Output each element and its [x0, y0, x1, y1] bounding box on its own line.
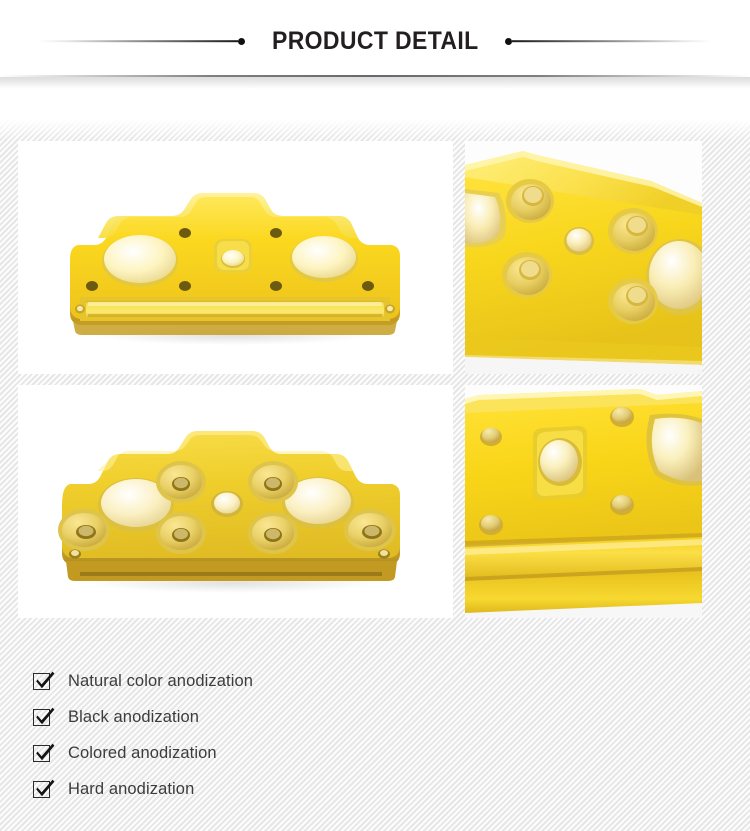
list-item-label: Hard anodization	[68, 780, 194, 799]
bracket-front-closeup-illustration	[465, 141, 702, 374]
header-rule-right-bar	[512, 40, 712, 42]
list-item-label: Colored anodization	[68, 744, 217, 763]
product-image-gallery	[18, 141, 732, 637]
bracket-front-view-illustration	[18, 141, 453, 374]
gallery-row-bottom	[18, 385, 732, 618]
product-photo-back-face-closeup[interactable]	[465, 385, 702, 618]
bracket-back-view-illustration	[18, 385, 453, 618]
list-item[interactable]: Black anodization	[33, 699, 533, 735]
bullet-dot-left-icon	[238, 38, 245, 45]
product-photo-front-face-full-view-inner	[18, 141, 453, 374]
checkmark-icon[interactable]	[33, 779, 54, 800]
bracket-back-closeup-illustration	[465, 385, 702, 618]
checkmark-icon[interactable]	[33, 743, 54, 764]
header-rule-left	[38, 40, 238, 42]
striped-top-fade	[0, 119, 750, 141]
header-rule-left-bar	[38, 40, 238, 42]
checkmark-icon[interactable]	[33, 707, 54, 728]
product-photo-front-face-closeup-inner	[465, 141, 702, 374]
product-photo-front-face-closeup[interactable]	[465, 141, 702, 374]
list-item-label: Natural color anodization	[68, 672, 253, 691]
anodization-options-list: Natural color anodization Black anodizat…	[33, 663, 533, 807]
gallery-row-top	[18, 141, 732, 374]
checkmark-icon[interactable]	[33, 671, 54, 692]
product-photo-back-face-closeup-inner	[465, 385, 702, 618]
check-glyph-icon	[34, 705, 56, 727]
product-photo-back-face-full-view-inner	[18, 385, 453, 618]
check-glyph-icon	[34, 777, 56, 799]
check-glyph-icon	[34, 669, 56, 691]
bullet-dot-right-icon	[505, 38, 512, 45]
header-divider-shadow	[0, 77, 750, 89]
list-item[interactable]: Colored anodization	[33, 735, 533, 771]
header-rule-right	[512, 40, 712, 42]
check-glyph-icon	[34, 741, 56, 763]
list-item[interactable]: Natural color anodization	[33, 663, 533, 699]
product-photo-back-face-full-view[interactable]	[18, 385, 453, 618]
product-detail-page: PRODUCT DETAIL	[0, 0, 750, 831]
page-title: PRODUCT DETAIL	[255, 29, 495, 54]
list-item-label: Black anodization	[68, 708, 199, 727]
header-inner: PRODUCT DETAIL	[0, 29, 750, 54]
page-header: PRODUCT DETAIL	[0, 0, 750, 76]
product-photo-front-face-full-view[interactable]	[18, 141, 453, 374]
list-item[interactable]: Hard anodization	[33, 771, 533, 807]
